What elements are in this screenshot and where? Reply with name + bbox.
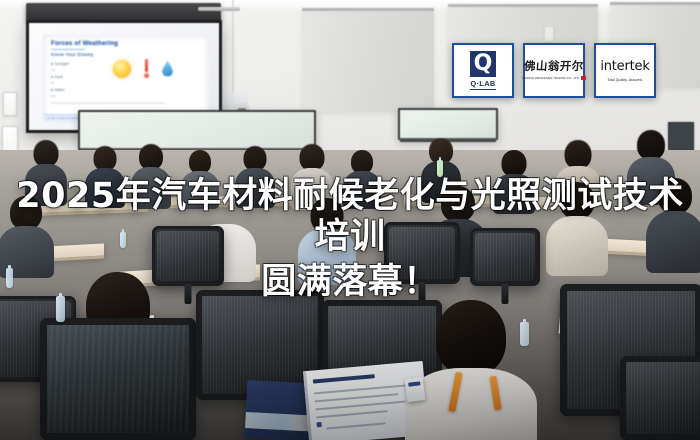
- slide-bullet-sub: UV: [51, 68, 103, 72]
- slide-bullet-label: Water: [55, 88, 65, 92]
- training-event-banner: Forces of Weathering Know Your Enemy Sun…: [0, 0, 700, 440]
- red-square-icon: [581, 76, 586, 80]
- thermometer-bulb: [144, 73, 149, 78]
- slide-icon-row: [113, 59, 173, 78]
- slide-bullet: Water: [51, 88, 103, 92]
- foshan-wengkaier-subtitle-row: FOSHAN WENGKAIER TRADING CO., LTD.: [522, 76, 585, 80]
- presentation-slide: Forces of Weathering Know Your Enemy Sun…: [43, 35, 209, 122]
- projector-screen-rod: [198, 7, 240, 11]
- bullet-dot-icon: [51, 89, 53, 91]
- whiteboard: [78, 110, 316, 150]
- qlab-mark-letter: Q: [474, 53, 493, 75]
- wall-poster: [3, 92, 17, 116]
- water-bottle: [437, 160, 443, 177]
- headline-line-2: 圆满落幕！: [0, 262, 700, 303]
- foshan-wengkaier-wordmark: 佛山翁开尔: [524, 61, 584, 73]
- slide-body: Forces of Weathering Know Your Enemy Sun…: [43, 35, 209, 114]
- water-bottle: [520, 322, 529, 346]
- slide-title: Forces of Weathering: [51, 41, 202, 48]
- logo-card-qlab: Q Q·LAB: [452, 43, 514, 98]
- intertek-tagline: Total Quality. Assured.: [607, 78, 643, 82]
- slide-bullet-label: Heat: [55, 75, 63, 79]
- slide-bullet: Sunlight: [51, 62, 103, 66]
- slide-bullet-label: Sunlight: [55, 62, 69, 66]
- bullet-dot-icon: [51, 76, 53, 78]
- whiteboard: [398, 108, 498, 140]
- slide-bullet-sublabel: UV: [51, 68, 55, 72]
- sun-icon: [113, 60, 131, 78]
- attendee-foreground: [416, 300, 526, 440]
- logo-card-foshan-wengkaier: 佛山翁开尔 FOSHAN WENGKAIER TRADING CO., LTD.: [523, 43, 585, 98]
- wall-mark: [544, 26, 554, 42]
- headline-line-1: 2025年汽车材料耐候老化与光照测试技术培训: [0, 176, 700, 257]
- slide-subtitle: Know Your Enemy: [51, 52, 202, 57]
- sponsor-logo-bar: Q Q·LAB 佛山翁开尔 FOSHAN WENGKAIER TRADING C…: [452, 43, 656, 98]
- foshan-wengkaier-subtitle: FOSHAN WENGKAIER TRADING CO., LTD.: [522, 77, 579, 80]
- qlab-wordmark: Q·LAB: [470, 79, 495, 90]
- slide-bullet-sub: IR: [51, 81, 103, 85]
- logo-card-intertek: intertek Total Quality. Assured.: [594, 43, 656, 98]
- slide-bullet: Heat: [51, 75, 103, 79]
- roller-blind: [302, 8, 434, 112]
- slide-bullet-sublabel: RH: [51, 94, 55, 98]
- slide-bullet-list: Sunlight UV Heat IR: [51, 62, 103, 98]
- slide-title-rule: [51, 49, 85, 50]
- water-drop-icon: [162, 61, 173, 77]
- qlab-mark-icon: Q: [470, 51, 496, 77]
- slide-footnote: Testing: Material testing and weathering…: [51, 102, 199, 105]
- thermometer-stem: [145, 59, 147, 72]
- office-chair-foreground: [40, 318, 196, 440]
- thermometer-icon: [144, 59, 149, 78]
- office-chair: [620, 356, 700, 440]
- bullet-dot-icon: [51, 63, 53, 65]
- slide-bullet-sub: RH: [51, 94, 103, 98]
- headline-overlay: 2025年汽车材料耐候老化与光照测试技术培训 圆满落幕！: [0, 176, 700, 303]
- slide-bullet-sublabel: IR: [51, 81, 54, 85]
- name-badge: [405, 377, 426, 402]
- intertek-wordmark: intertek: [600, 60, 649, 73]
